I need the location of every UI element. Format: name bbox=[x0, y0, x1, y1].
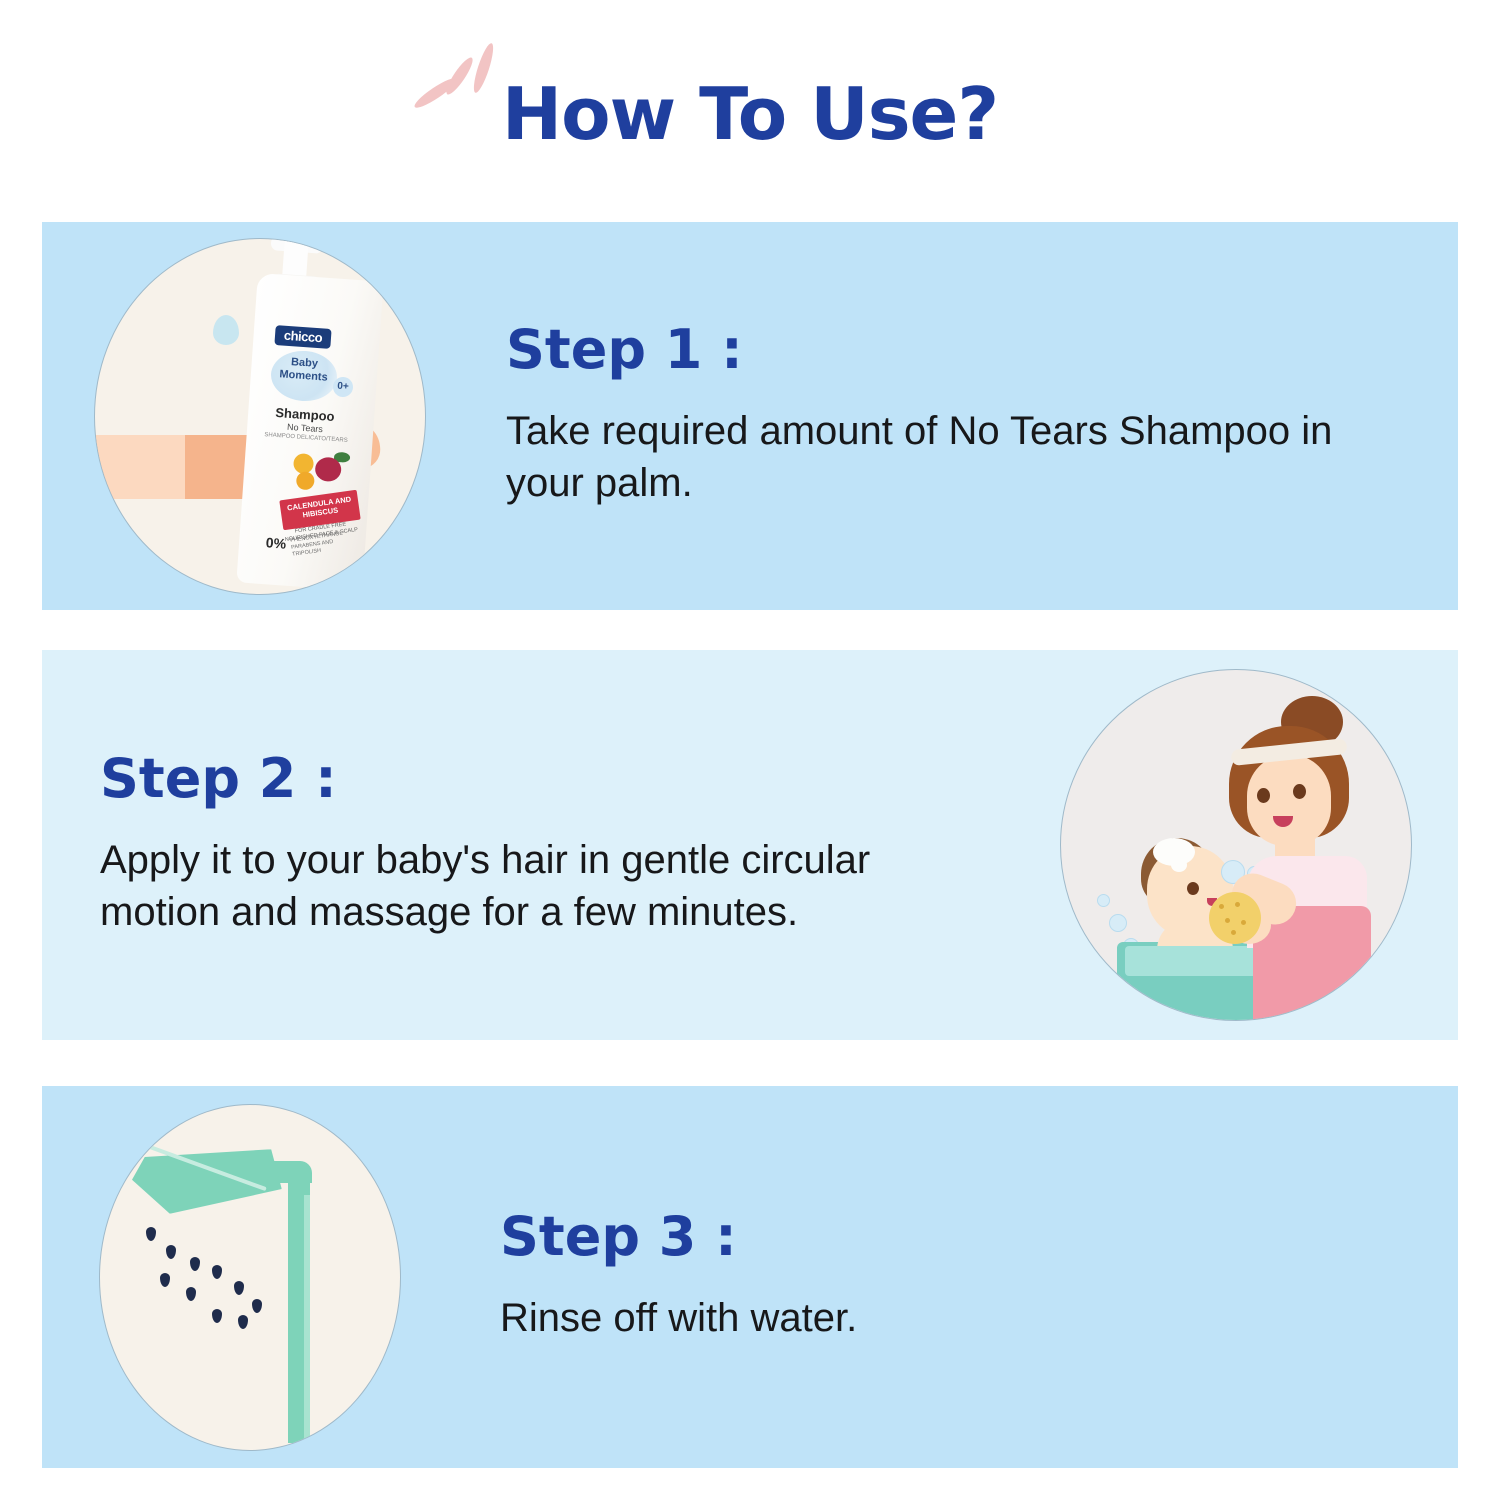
product-line-label: Baby Moments bbox=[270, 354, 338, 384]
water-droplet-icon bbox=[213, 315, 239, 345]
header: How To Use? bbox=[0, 0, 1500, 218]
step-2-body: Apply it to your baby's hair in gentle c… bbox=[100, 834, 1000, 940]
step-panel-3: Step 3 : Rinse off with water. bbox=[42, 1086, 1458, 1468]
step-1-illustration: chicco Baby Moments 0+ Shampoo No Tears … bbox=[60, 238, 460, 595]
shampoo-bottle-circle-image: chicco Baby Moments 0+ Shampoo No Tears … bbox=[94, 238, 426, 595]
step-2-heading: Step 2 : bbox=[100, 751, 1016, 808]
mother-bathing-baby-circle-image bbox=[1060, 669, 1412, 1021]
step-3-copy: Step 3 : Rinse off with water. bbox=[440, 1209, 1458, 1344]
shower-head-circle-image bbox=[99, 1104, 401, 1451]
brand-logo: chicco bbox=[274, 325, 331, 349]
shampoo-foam-small bbox=[1171, 858, 1187, 872]
how-to-use-infographic: How To Use? chicco Baby Moments 0+ Shamp… bbox=[0, 0, 1500, 1500]
mother-eye-right bbox=[1293, 784, 1306, 799]
step-3-body: Rinse off with water. bbox=[500, 1292, 1400, 1345]
shower-head-icon bbox=[131, 1144, 283, 1217]
sponge-icon bbox=[1209, 892, 1261, 944]
step-1-body: Take required amount of No Tears Shampoo… bbox=[506, 405, 1406, 511]
step-2-copy: Step 2 : Apply it to your baby's hair in… bbox=[42, 751, 1036, 939]
step-2-illustration bbox=[1036, 669, 1436, 1021]
step-panel-2: Step 2 : Apply it to your baby's hair in… bbox=[42, 650, 1458, 1040]
free-from-value: 0% bbox=[262, 534, 289, 552]
step-1-copy: Step 1 : Take required amount of No Tear… bbox=[460, 322, 1458, 510]
page-title: How To Use? bbox=[0, 78, 1500, 150]
mother-eye-left bbox=[1257, 788, 1270, 803]
step-1-heading: Step 1 : bbox=[506, 322, 1458, 379]
step-3-heading: Step 3 : bbox=[500, 1209, 1458, 1266]
flowers-graphic bbox=[290, 448, 357, 494]
step-3-illustration bbox=[60, 1104, 440, 1451]
step-panel-1: chicco Baby Moments 0+ Shampoo No Tears … bbox=[42, 222, 1458, 610]
baby-eye bbox=[1187, 882, 1199, 895]
shower-pipe-highlight bbox=[304, 1177, 310, 1443]
forearm-shape bbox=[94, 435, 185, 499]
